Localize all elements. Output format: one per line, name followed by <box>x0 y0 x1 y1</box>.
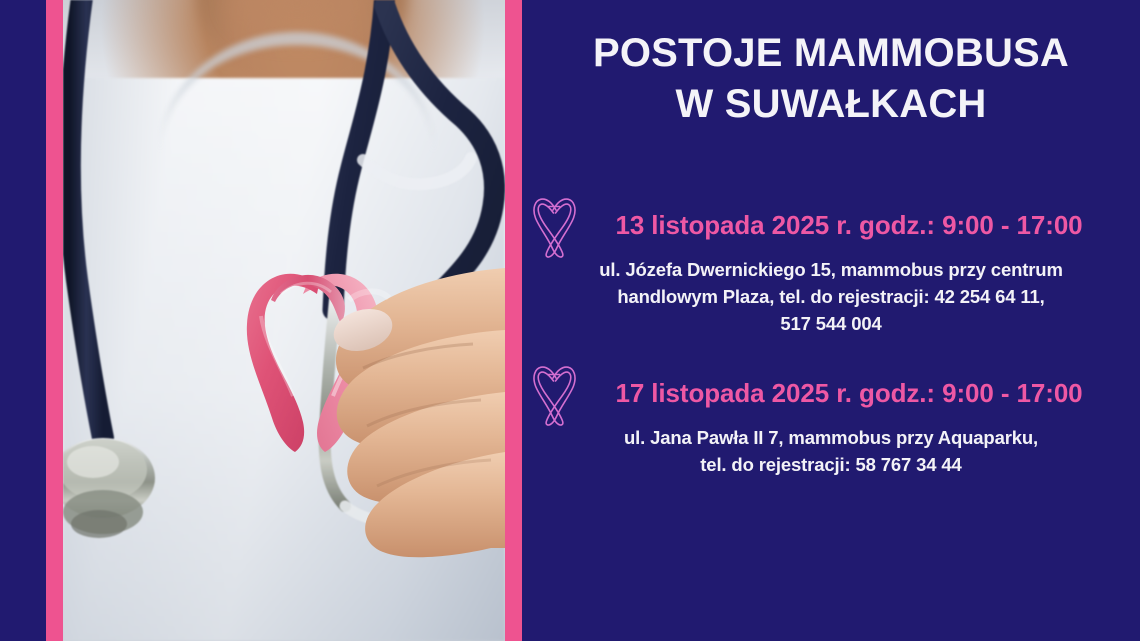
doctor-with-ribbon-photo <box>63 0 505 641</box>
stop-1-date-row: 13 listopada 2025 r. godz.: 9:00 - 17:00 <box>522 195 1140 255</box>
awareness-ribbon-icon <box>532 365 578 427</box>
stop-entry-1: 13 listopada 2025 r. godz.: 9:00 - 17:00… <box>522 195 1140 337</box>
stop-2-date-row: 17 listopada 2025 r. godz.: 9:00 - 17:00 <box>522 363 1140 423</box>
poster: POSTOJE MAMMOBUSA W SUWAŁKACH 13 listopa… <box>0 0 1140 641</box>
stop-1-address: ul. Józefa Dwernickiego 15, mammobus prz… <box>522 257 1140 337</box>
pink-accent-bar-right <box>505 0 522 641</box>
stop-2-address: ul. Jana Pawła II 7, mammobus przy Aquap… <box>522 425 1140 479</box>
pink-accent-bar-left <box>46 0 63 641</box>
stop-2-date: 17 listopada 2025 r. godz.: 9:00 - 17:00 <box>579 378 1082 409</box>
photo-panel <box>46 0 522 641</box>
stop-1-date: 13 listopada 2025 r. godz.: 9:00 - 17:00 <box>579 210 1082 241</box>
page-title: POSTOJE MAMMOBUSA W SUWAŁKACH <box>522 28 1140 130</box>
hand-holding-ribbon <box>63 0 505 641</box>
stop-entry-2: 17 listopada 2025 r. godz.: 9:00 - 17:00… <box>522 363 1140 479</box>
content-panel: POSTOJE MAMMOBUSA W SUWAŁKACH 13 listopa… <box>522 0 1140 641</box>
awareness-ribbon-icon <box>532 197 578 259</box>
